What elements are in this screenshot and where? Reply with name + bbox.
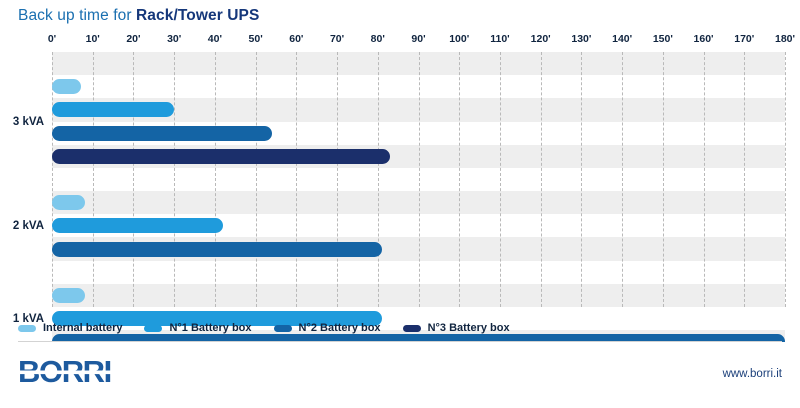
legend-swatch-icon bbox=[403, 325, 421, 332]
gridline bbox=[215, 52, 216, 307]
chart-plot-area bbox=[52, 52, 785, 307]
gridline bbox=[174, 52, 175, 307]
legend-swatch-icon bbox=[144, 325, 162, 332]
x-tick-label: 170' bbox=[734, 33, 754, 45]
gridline bbox=[133, 52, 134, 307]
bar bbox=[52, 195, 85, 210]
website-url: www.borri.it bbox=[723, 368, 782, 380]
page-footer: BORRI www.borri.it bbox=[0, 342, 800, 408]
bar bbox=[52, 126, 272, 141]
chart-legend: Internal batteryN°1 Battery boxN°2 Batte… bbox=[18, 318, 532, 338]
x-tick-label: 150' bbox=[653, 33, 673, 45]
x-tick-label: 130' bbox=[571, 33, 591, 45]
legend-item[interactable]: N°3 Battery box bbox=[403, 322, 510, 334]
bar bbox=[52, 102, 174, 117]
gridline bbox=[500, 52, 501, 307]
gridline bbox=[256, 52, 257, 307]
x-tick-label: 30' bbox=[167, 33, 181, 45]
legend-label: N°3 Battery box bbox=[428, 322, 510, 334]
gridline bbox=[785, 52, 786, 307]
page-title-emphasis: Rack/Tower UPS bbox=[136, 7, 259, 24]
bar bbox=[52, 149, 390, 164]
legend-label: N°1 Battery box bbox=[169, 322, 251, 334]
x-tick-label: 70' bbox=[330, 33, 344, 45]
page-title-prefix: Back up time for bbox=[18, 7, 136, 24]
borri-logo: BORRI bbox=[18, 355, 124, 389]
gridline bbox=[541, 52, 542, 307]
y-category-label: 2 kVA bbox=[13, 220, 44, 232]
legend-item[interactable]: Internal battery bbox=[18, 322, 122, 334]
legend-item[interactable]: N°2 Battery box bbox=[274, 322, 381, 334]
x-tick-label: 0' bbox=[48, 33, 56, 45]
gridline bbox=[419, 52, 420, 307]
legend-swatch-icon bbox=[18, 325, 36, 332]
x-axis-tick-labels: 0'10'20'30'40'50'60'70'80'90'100'110'120… bbox=[52, 33, 785, 49]
x-tick-label: 180' bbox=[775, 33, 795, 45]
x-tick-label: 80' bbox=[371, 33, 385, 45]
x-tick-label: 120' bbox=[531, 33, 551, 45]
gridline bbox=[663, 52, 664, 307]
gridline bbox=[622, 52, 623, 307]
gridline bbox=[93, 52, 94, 307]
gridline bbox=[581, 52, 582, 307]
bar bbox=[52, 288, 85, 303]
x-tick-label: 60' bbox=[289, 33, 303, 45]
page-title: Back up time for Rack/Tower UPS bbox=[18, 7, 259, 25]
legend-label: N°2 Battery box bbox=[299, 322, 381, 334]
x-tick-label: 90' bbox=[411, 33, 425, 45]
gridline bbox=[459, 52, 460, 307]
x-tick-label: 40' bbox=[208, 33, 222, 45]
x-tick-label: 20' bbox=[126, 33, 140, 45]
gridline bbox=[378, 52, 379, 307]
y-axis-category-labels: 3 kVA2 kVA1 kVA bbox=[0, 52, 44, 307]
x-tick-label: 140' bbox=[612, 33, 632, 45]
y-category-label: 3 kVA bbox=[13, 116, 44, 128]
gridline bbox=[337, 52, 338, 307]
legend-item[interactable]: N°1 Battery box bbox=[144, 322, 251, 334]
gridline bbox=[744, 52, 745, 307]
legend-swatch-icon bbox=[274, 325, 292, 332]
x-tick-label: 110' bbox=[490, 33, 509, 45]
bar bbox=[52, 218, 223, 233]
gridline bbox=[296, 52, 297, 307]
x-tick-label: 100' bbox=[449, 33, 469, 45]
gridline bbox=[704, 52, 705, 307]
x-tick-label: 10' bbox=[86, 33, 100, 45]
legend-label: Internal battery bbox=[43, 322, 122, 334]
x-tick-label: 160' bbox=[694, 33, 714, 45]
bar bbox=[52, 79, 81, 94]
x-tick-label: 50' bbox=[249, 33, 263, 45]
bar bbox=[52, 242, 382, 257]
